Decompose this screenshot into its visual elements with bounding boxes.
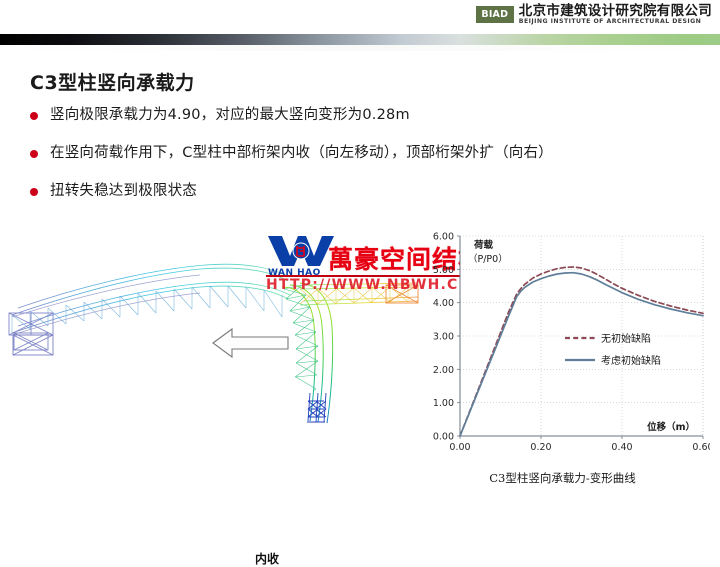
y-axis-tick: 2.00 — [433, 365, 454, 376]
x-axis-tick: 0.20 — [530, 442, 551, 453]
fea-deformation-figure: 内收 — [0, 225, 420, 460]
list-item: 扭转失稳达到极限状态 — [30, 181, 700, 202]
y-axis-tick: 0.00 — [433, 432, 454, 443]
bullet-dot-icon — [30, 150, 38, 158]
biad-logo: BIAD 北京市建筑设计研究院有限公司 BEIJING INSTITUTE OF… — [476, 4, 712, 26]
company-name-en: BEIJING INSTITUTE OF ARCHITECTURAL DESIG… — [519, 19, 712, 26]
y-axis-tick: 5.00 — [433, 265, 454, 276]
bullet-dot-icon — [30, 188, 38, 196]
list-item: 在竖向荷载作用下，C型柱中部桁架内收（向左移动），顶部桁架外扩（向右） — [30, 143, 700, 164]
y-axis-unit: （P/P0） — [468, 253, 508, 265]
header-gradient-fade — [0, 45, 720, 51]
x-axis-tick: 0.40 — [611, 442, 632, 453]
inward-arrow-label: 内收 — [255, 550, 279, 567]
company-name-cn: 北京市建筑设计研究院有限公司 — [519, 4, 712, 18]
bullet-list: 竖向极限承载力为4.90，对应的最大竖向变形为0.28m 在竖向荷载作用下，C型… — [30, 105, 700, 219]
y-axis-label: 荷载 — [473, 239, 494, 251]
bullet-text: 在竖向荷载作用下，C型柱中部桁架内收（向左移动），顶部桁架外扩（向右） — [50, 143, 553, 164]
slide-header: BIAD 北京市建筑设计研究院有限公司 BEIJING INSTITUTE OF… — [0, 0, 720, 46]
fea-model-svg — [0, 225, 420, 460]
bullet-text: 竖向极限承载力为4.90，对应的最大竖向变形为0.28m — [50, 105, 410, 126]
legend-label: 无初始缺陷 — [601, 332, 651, 345]
inward-arrow-icon — [213, 329, 288, 357]
load-displacement-chart: 0.001.002.003.004.005.006.000.000.200.40… — [415, 218, 710, 468]
header-gradient-bar — [0, 34, 720, 45]
y-axis-tick: 4.00 — [433, 298, 454, 309]
biad-logo-text: 北京市建筑设计研究院有限公司 BEIJING INSTITUTE OF ARCH… — [519, 4, 712, 26]
x-axis-tick: 0.60 — [692, 442, 710, 453]
legend-label: 考虑初始缺陷 — [601, 354, 661, 367]
chart-caption: C3型柱竖向承载力-变形曲线 — [415, 470, 710, 486]
y-axis-tick: 6.00 — [433, 232, 454, 243]
list-item: 竖向极限承载力为4.90，对应的最大竖向变形为0.28m — [30, 105, 700, 126]
x-axis-label: 位移（m） — [647, 421, 695, 433]
bullet-text: 扭转失稳达到极限状态 — [50, 181, 197, 202]
bullet-dot-icon — [30, 112, 38, 120]
chart-svg: 0.001.002.003.004.005.006.000.000.200.40… — [415, 218, 710, 468]
page-title: C3型柱竖向承载力 — [30, 68, 195, 95]
x-axis-tick: 0.00 — [449, 442, 470, 453]
biad-logo-mark: BIAD — [476, 6, 514, 23]
y-axis-tick: 1.00 — [433, 398, 454, 409]
y-axis-tick: 3.00 — [433, 332, 454, 343]
